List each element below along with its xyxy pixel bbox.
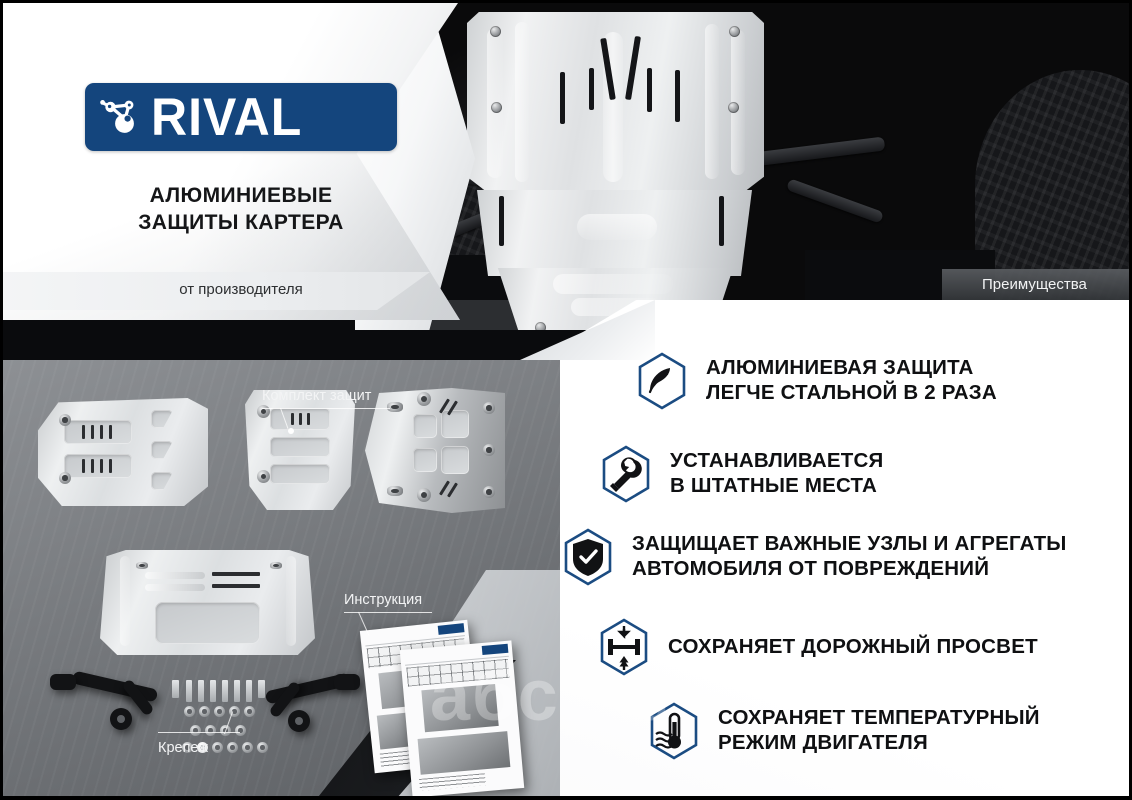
callout-fasteners: Крепеж	[158, 740, 208, 756]
ground-clearance-icon	[598, 618, 650, 676]
benefit-item-clearance: СОХРАНЯЕТ ДОРОЖНЫЙ ПРОСВЕТ	[598, 618, 1038, 676]
benefit-item-temperature: СОХРАНЯЕТ ТЕМПЕРАТУРНЫЙ РЕЖИМ ДВИГАТЕЛЯ	[648, 702, 1040, 760]
hero-subtitle: от производителя	[85, 281, 397, 298]
callout-kit: Комплект защит	[262, 388, 371, 404]
advantages-tab-label: Преимущества	[982, 276, 1087, 293]
tie-rod-right	[786, 178, 884, 223]
suspension-arm-right	[745, 137, 886, 168]
leaf-icon	[636, 352, 688, 410]
benefit-item-protection: ЗАЩИЩАЕТ ВАЖНЫЕ УЗЛЫ И АГРЕГАТЫ АВТОМОБИ…	[562, 528, 1067, 586]
molecule-icon	[99, 93, 147, 141]
callout-fasteners-label: Крепеж	[158, 740, 208, 756]
page-title-line1: АЛЮМИНИЕВЫЕ	[85, 183, 397, 210]
brand-logo: RIVAL	[85, 83, 397, 151]
installed-skid-plate-middle	[477, 190, 752, 276]
thermometer-icon	[648, 702, 700, 760]
benefit-label: СОХРАНЯЕТ ТЕМПЕРАТУРНЫЙ РЕЖИМ ДВИГАТЕЛЯ	[718, 706, 1040, 755]
skid-plate-main	[100, 550, 315, 655]
skid-plate-3	[365, 388, 505, 513]
benefit-label: СОХРАНЯЕТ ДОРОЖНЫЙ ПРОСВЕТ	[668, 635, 1038, 660]
skid-plate-1	[38, 398, 208, 506]
promo-banner: Преимущества RIVAL АЛЮМИНИЕВЫЕ ЗАЩИТЫ КА…	[0, 0, 1132, 800]
benefit-label: ЗАЩИЩАЕТ ВАЖНЫЕ УЗЛЫ И АГРЕГАТЫ АВТОМОБИ…	[632, 532, 1067, 581]
products-showcase	[0, 360, 560, 800]
benefit-label: УСТАНАВЛИВАЕТСЯ В ШТАТНЫЕ МЕСТА	[670, 449, 883, 498]
benefit-item-weight: АЛЮМИНИЕВАЯ ЗАЩИТА ЛЕГЧЕ СТАЛЬНОЙ В 2 РА…	[636, 352, 997, 410]
advantages-tab[interactable]: Преимущества	[942, 269, 1132, 300]
callout-instruction: Инструкция	[344, 592, 422, 608]
callout-instruction-label: Инструкция	[344, 592, 422, 608]
shield-check-icon	[562, 528, 614, 586]
installed-skid-plate-upper	[467, 12, 764, 195]
benefit-label: АЛЮМИНИЕВАЯ ЗАЩИТА ЛЕГЧЕ СТАЛЬНОЙ В 2 РА…	[706, 356, 997, 405]
page-title-line2: ЗАЩИТЫ КАРТЕРА	[85, 210, 397, 237]
page-title: АЛЮМИНИЕВЫЕ ЗАЩИТЫ КАРТЕРА	[85, 183, 397, 237]
brand-wordmark: RIVAL	[151, 91, 302, 144]
benefit-item-fitment: УСТАНАВЛИВАЕТСЯ В ШТАТНЫЕ МЕСТА	[600, 445, 883, 503]
callout-kit-label: Комплект защит	[262, 388, 371, 404]
wrench-icon	[600, 445, 652, 503]
instruction-sheet-front	[400, 640, 524, 797]
